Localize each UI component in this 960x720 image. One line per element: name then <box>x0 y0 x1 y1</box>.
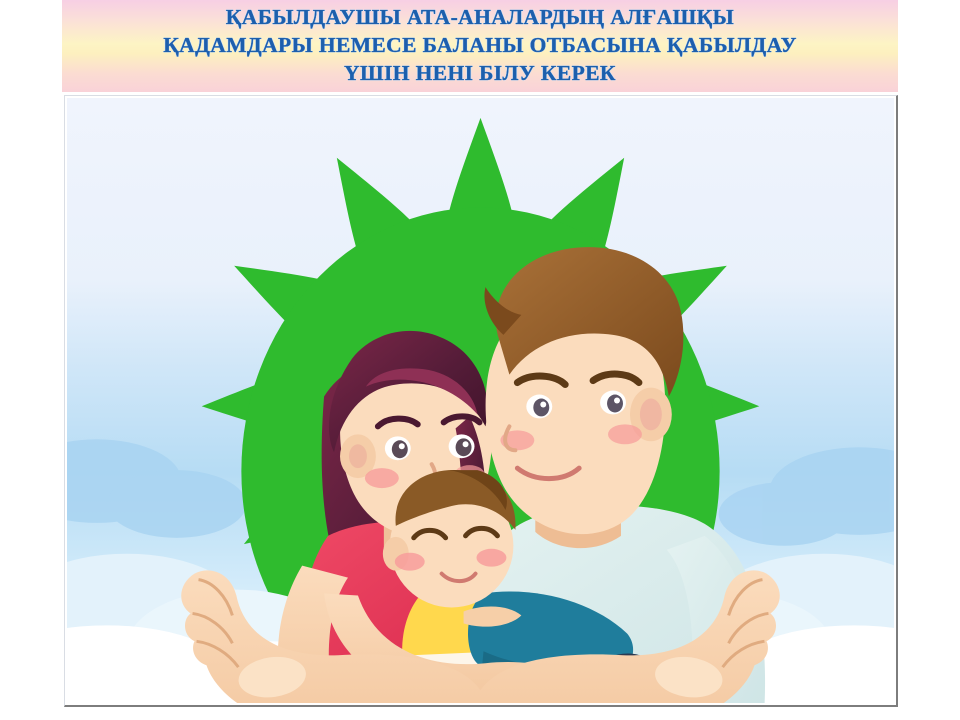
slide-title-banner: ҚАБЫЛДАУШЫ АТА-АНАЛАРДЫҢ АЛҒАШҚЫ ҚАДАМДА… <box>62 0 898 92</box>
illustration-svg <box>67 98 894 703</box>
title-line-2: ҚАДАМДАРЫ НЕМЕСЕ БАЛАНЫ ОТБАСЫНА ҚАБЫЛДА… <box>163 31 797 59</box>
illustration-frame[interactable] <box>64 95 898 707</box>
family-adoption-illustration <box>67 98 894 703</box>
title-line-3: ҮШІН НЕНІ БІЛУ КЕРЕК <box>344 59 616 87</box>
title-line-1: ҚАБЫЛДАУШЫ АТА-АНАЛАРДЫҢ АЛҒАШҚЫ <box>226 3 734 31</box>
